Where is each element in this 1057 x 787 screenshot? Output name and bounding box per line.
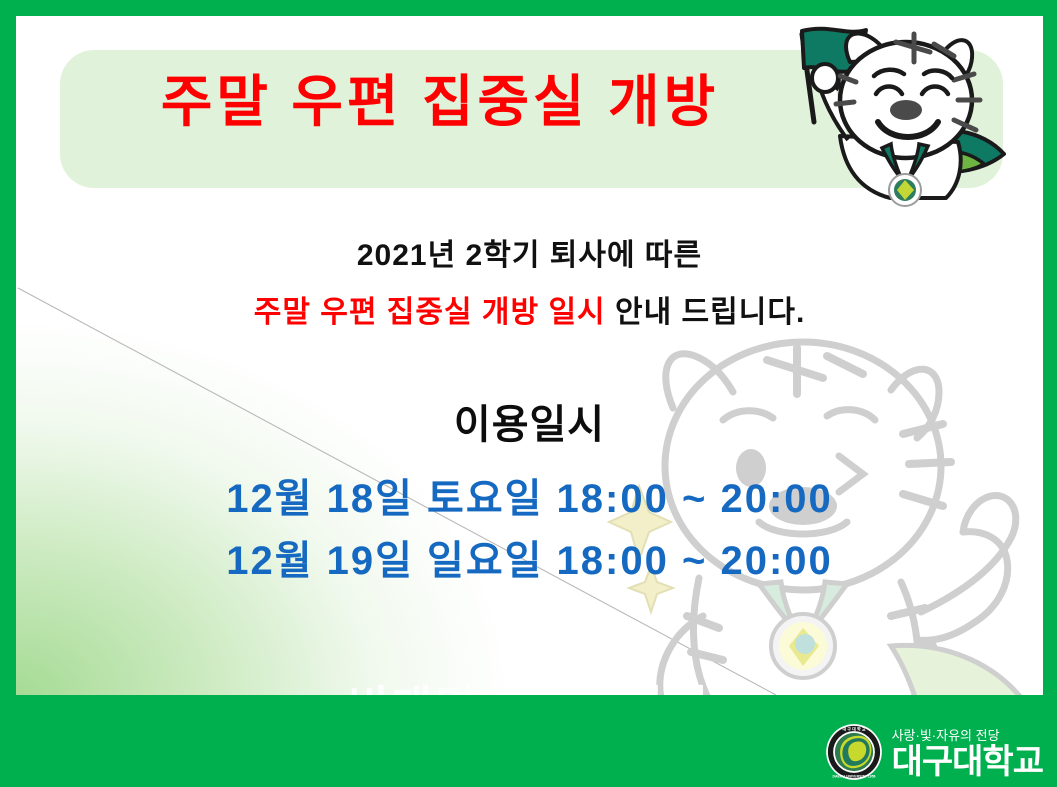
body-line-1: 2021년 2학기 퇴사에 따른	[16, 238, 1043, 275]
logo-text-group: 사랑·빛·자유의 전당 대구대학교	[892, 725, 1043, 779]
bottom-green-bar: 대 구 대 학 교 DAEGU UNIVERSITY 1956 사랑·빛·자유의…	[0, 695, 1057, 787]
schedule-list: 12월 18일 토요일 18:00 ~ 20:00 12월 19일 일요일 18…	[16, 468, 1043, 592]
university-logo: 대 구 대 학 교 DAEGU UNIVERSITY 1956 사랑·빛·자유의…	[825, 723, 1043, 781]
schedule-entry-saturday: 12월 18일 토요일 18:00 ~ 20:00	[16, 468, 1043, 530]
footer-ghost-note: 비대면일은 공강일	[16, 671, 1043, 695]
svg-text:대 구 대 학 교: 대 구 대 학 교	[842, 726, 865, 732]
body-line-2-emphasis: 주말 우편 집중실 개방 일시	[254, 296, 606, 329]
poster-root: 주말 우편 집중실 개방	[0, 0, 1057, 787]
logo-university-name: 대구대학교	[892, 745, 1043, 779]
svg-text:DAEGU UNIVERSITY 1956: DAEGU UNIVERSITY 1956	[832, 775, 875, 779]
body-line-2-tail: 안내 드립니다.	[606, 296, 806, 329]
poster-canvas: 주말 우편 집중실 개방	[16, 16, 1043, 695]
tiger-mascot-with-flag	[778, 18, 1028, 208]
schedule-entry-sunday: 12월 19일 일요일 18:00 ~ 20:00	[16, 530, 1043, 592]
logo-tagline: 사랑·빛·자유의 전당	[892, 725, 1000, 744]
body-text-block: 2021년 2학기 퇴사에 따른 주말 우편 집중실 개방 일시 안내 드립니다…	[16, 238, 1043, 331]
daegu-university-emblem-icon: 대 구 대 학 교 DAEGU UNIVERSITY 1956	[825, 723, 883, 781]
schedule-heading: 이용일시	[16, 392, 1043, 450]
body-line-2: 주말 우편 집중실 개방 일시 안내 드립니다.	[16, 295, 1043, 332]
page-title: 주말 우편 집중실 개방	[100, 74, 780, 130]
